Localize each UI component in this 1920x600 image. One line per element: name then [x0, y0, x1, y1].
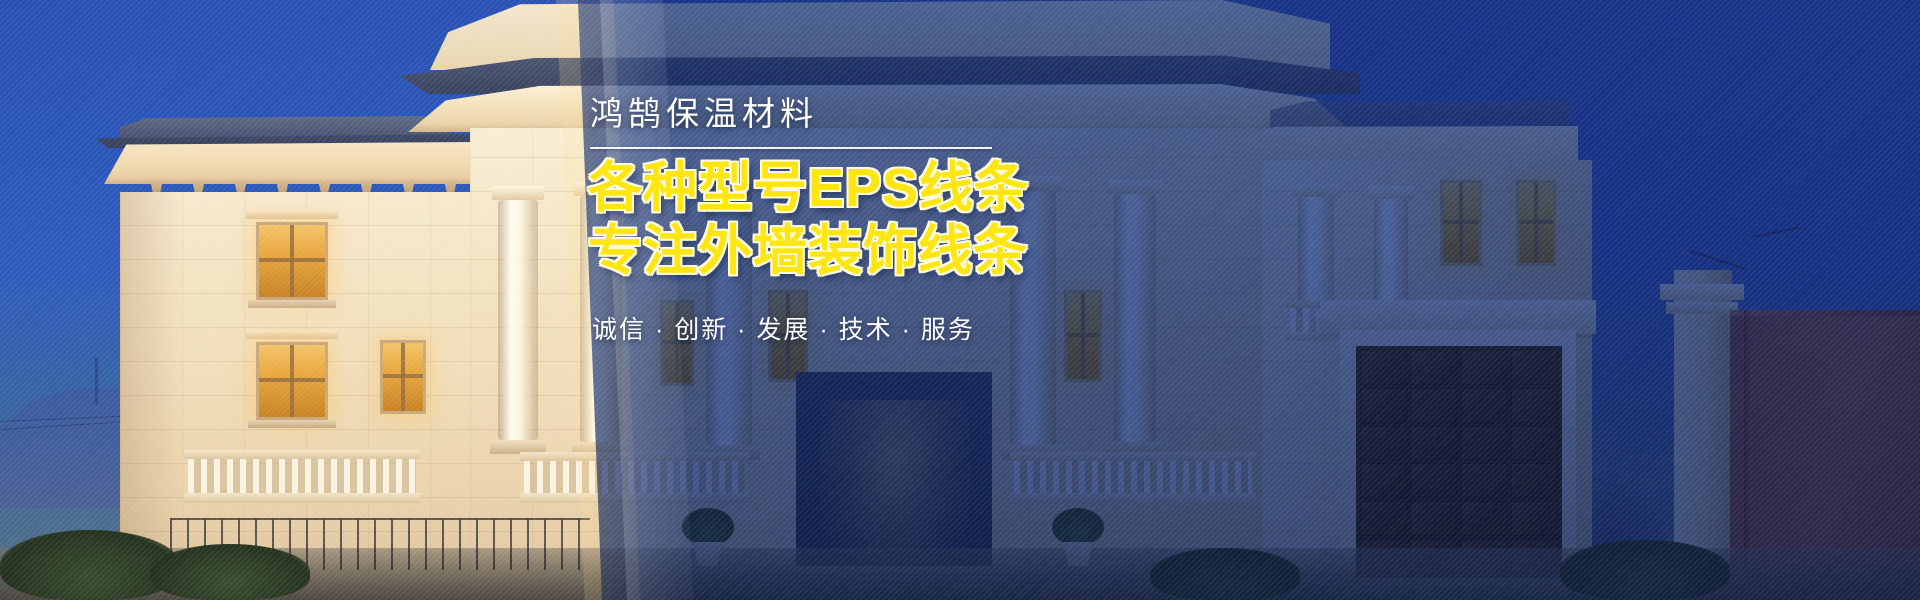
balusters: [188, 459, 416, 493]
banner-copy: 鸿鹄保温材料 各种型号EPS线条 专注外墙装饰线条 诚信 · 创新 · 发展 ·…: [588, 96, 1028, 346]
window-sill: [248, 300, 336, 308]
promo-banner: 鸿鹄保温材料 各种型号EPS线条 专注外墙装饰线条 诚信 · 创新 · 发展 ·…: [0, 0, 1920, 600]
brand-name: 鸿鹄保温材料: [588, 96, 1028, 132]
divider-rule: [590, 147, 992, 149]
balcony-rail: [184, 450, 420, 459]
headline-line-1: 各种型号EPS线条: [588, 157, 1028, 220]
balcony-base: [184, 493, 420, 503]
window-sill: [248, 420, 336, 428]
tagline: 诚信 · 创新 · 发展 · 技术 · 服务: [588, 310, 1028, 346]
glowing-window: [256, 222, 328, 300]
headline: 各种型号EPS线条 专注外墙装饰线条: [588, 157, 1028, 282]
portico-column: [498, 200, 538, 440]
headline-line-2: 专注外墙装饰线条: [588, 220, 1028, 283]
glowing-window: [380, 340, 426, 414]
column-capital: [492, 186, 544, 200]
window-hood: [246, 330, 338, 339]
left-wing-cornice: [104, 142, 476, 184]
window-hood: [246, 210, 338, 219]
shrub: [150, 544, 310, 600]
glowing-window: [256, 342, 328, 420]
